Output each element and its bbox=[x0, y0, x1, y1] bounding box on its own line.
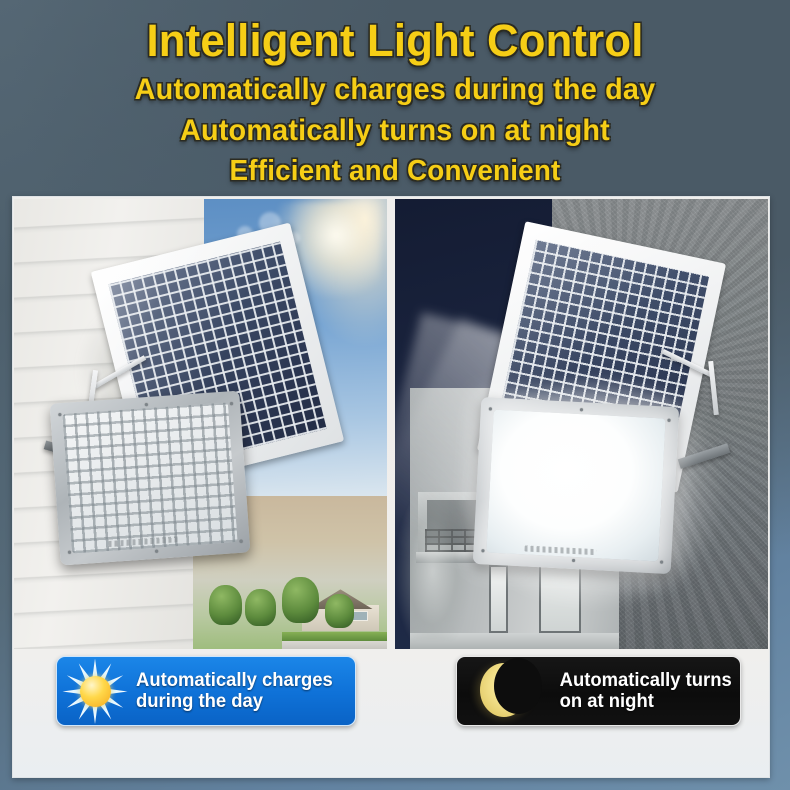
floodlight-lens bbox=[486, 409, 665, 561]
floodlight-housing bbox=[50, 391, 251, 566]
headline-subtitle-3: Efficient and Convenient bbox=[16, 146, 774, 186]
page-title: Intelligent Light Control bbox=[12, 0, 778, 63]
badge-daytime-line-2: during the day bbox=[136, 691, 333, 712]
illuminated-led-panel bbox=[486, 409, 665, 561]
led-floodlight-off bbox=[50, 391, 251, 566]
housing-screw bbox=[145, 403, 148, 406]
floodlight-housing bbox=[473, 396, 679, 573]
headline-subtitle-1: Automatically charges during the day bbox=[16, 63, 774, 105]
housing-screw bbox=[230, 402, 233, 405]
content-card: Automatically charges during the day Aut… bbox=[12, 196, 770, 778]
headline-block: Intelligent Light Control Automatically … bbox=[0, 0, 790, 196]
photo-night-scene bbox=[395, 199, 768, 649]
shrub bbox=[282, 577, 319, 623]
floodlight-lens bbox=[63, 403, 238, 554]
badge-daytime-charging[interactable]: Automatically charges during the day bbox=[56, 656, 356, 726]
photo-comparison-row bbox=[13, 199, 769, 649]
housing-screw bbox=[580, 407, 583, 410]
house-window bbox=[352, 611, 368, 622]
shrub bbox=[325, 594, 354, 628]
badge-nighttime-text: Automatically turns on at night bbox=[560, 670, 732, 713]
badge-daytime-text: Automatically charges during the day bbox=[136, 670, 333, 713]
housing-screw bbox=[489, 407, 492, 410]
housing-screw bbox=[58, 413, 61, 416]
housing-screw bbox=[67, 550, 70, 553]
badge-nighttime-line-1: Automatically turns bbox=[560, 670, 732, 691]
housing-screw bbox=[667, 418, 670, 421]
led-diode-array bbox=[63, 403, 238, 554]
shrub bbox=[209, 585, 242, 625]
sun-icon bbox=[63, 659, 127, 723]
housing-screw bbox=[481, 549, 484, 552]
housing-screw bbox=[572, 558, 575, 561]
badge-nighttime-lighting[interactable]: Automatically turns on at night bbox=[456, 656, 741, 726]
photo-day-scene bbox=[14, 199, 387, 649]
driveway bbox=[282, 641, 387, 649]
housing-screw bbox=[660, 560, 663, 563]
lawn bbox=[282, 632, 387, 641]
led-floodlight-on bbox=[473, 396, 679, 573]
housing-screw bbox=[239, 540, 242, 543]
sun-disc bbox=[80, 676, 111, 707]
badge-nighttime-line-2: on at night bbox=[560, 691, 732, 712]
moon-crescent-mask bbox=[494, 658, 542, 714]
badge-daytime-line-1: Automatically charges bbox=[136, 670, 333, 691]
shrub bbox=[245, 589, 276, 626]
housing-screw bbox=[155, 549, 158, 552]
moon-icon bbox=[469, 659, 539, 723]
headline-subtitle-2: Automatically turns on at night bbox=[16, 105, 774, 146]
feature-badge-row: Automatically charges during the day Aut… bbox=[13, 649, 769, 777]
product-banner: Intelligent Light Control Automatically … bbox=[0, 0, 790, 790]
